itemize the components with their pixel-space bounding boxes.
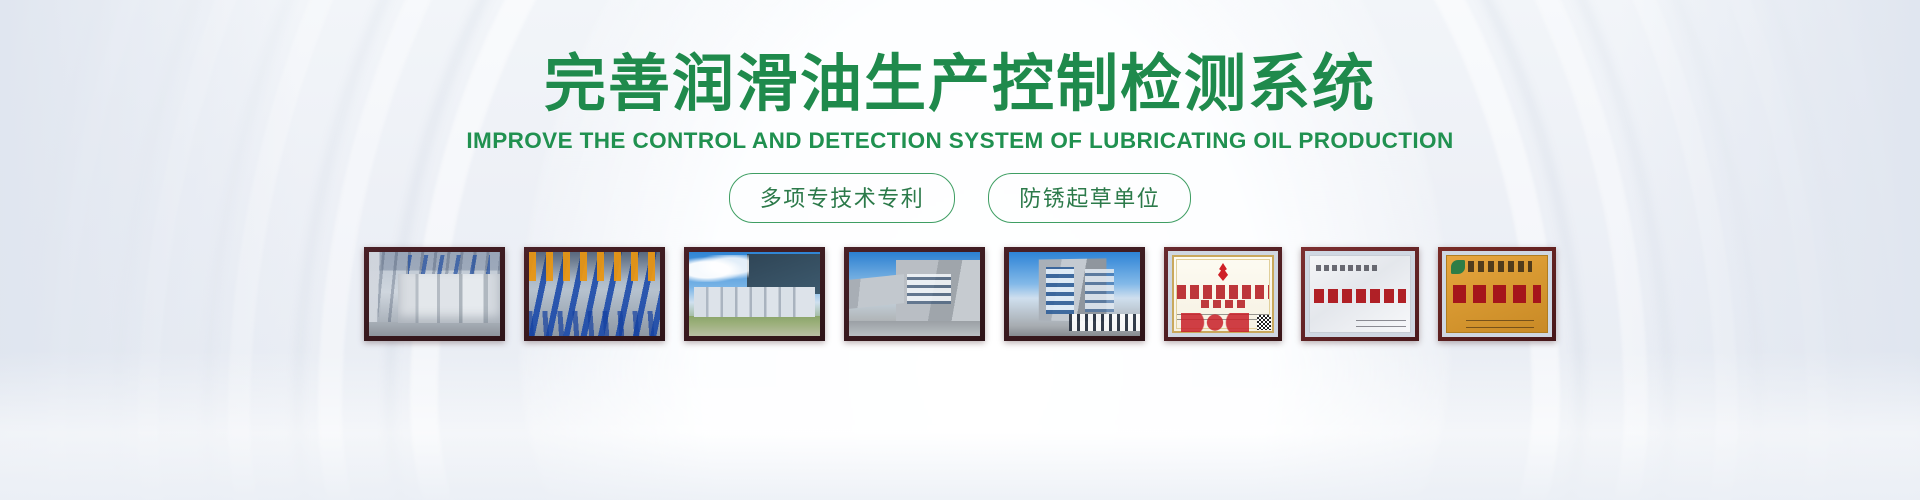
plaque-issuer-text [1356,316,1407,326]
conveyor-bridge-detail [849,274,904,308]
photo-office-building-exterior [1009,252,1140,336]
plaque-year-text [1468,261,1532,271]
lower-manifold-detail [529,311,660,336]
banner-title-cn: 完善润滑油生产控制检测系统 [544,52,1376,119]
plaque-guangdong-specialized-enterprise [1305,251,1415,337]
certificate-subtitle-text [1201,300,1245,308]
sky-clouds-detail [689,255,749,282]
gallery-thumb-office-building-exterior[interactable] [1004,247,1145,341]
road-detail [849,321,980,336]
feature-pill-group: 多项专技术专利 防锈起草单位 [729,173,1192,223]
banner-content: 完善润滑油生产控制检测系统 IMPROVE THE CONTROL AND DE… [0,0,1920,500]
gallery-thumb-high-tech-enterprise-certificate[interactable] [1164,247,1282,341]
photo-blue-piping-manifold [529,252,660,336]
photo-storage-tank-farm [689,252,820,336]
certificate-high-tech-enterprise [1168,251,1278,337]
gallery-thumbnail-strip [364,247,1556,341]
gallery-thumb-plant-building-exterior[interactable] [844,247,985,341]
gallery-thumb-blue-piping-manifold[interactable] [524,247,665,341]
plaque-issuer-text [1466,315,1534,328]
window-grid-detail [1085,269,1114,313]
official-seals [1181,313,1249,332]
gallery-thumb-guangdong-specialized-enterprise-plaque[interactable] [1301,247,1419,341]
feature-pill-patents[interactable]: 多项专技术专利 [729,173,956,223]
feature-pill-antirust-standard[interactable]: 防锈起草单位 [988,173,1191,223]
plaque-title-text [1453,285,1541,302]
plaque-gazelle-enterprise [1442,251,1552,337]
gallery-thumb-gazelle-enterprise-plaque[interactable] [1438,247,1556,341]
photo-plant-building-exterior [849,252,980,336]
plaque-recipient-text [1316,265,1380,271]
gallery-thumb-storage-tank-farm[interactable] [684,247,825,341]
ceiling-pipes-detail [408,255,489,275]
banner-title-en: IMPROVE THE CONTROL AND DETECTION SYSTEM… [466,128,1453,154]
qr-code-icon [1257,315,1271,330]
certificate-title-text [1177,285,1269,299]
lawn-detail [689,316,820,336]
hero-banner: 完善润滑油生产控制检测系统 IMPROVE THE CONTROL AND DE… [0,0,1920,500]
gate-fence-detail [1069,314,1140,331]
photo-factory-interior-corridor [369,252,500,336]
plaque-title-text [1314,289,1406,303]
floor-detail [369,322,500,336]
gallery-thumb-factory-interior-corridor[interactable] [364,247,505,341]
